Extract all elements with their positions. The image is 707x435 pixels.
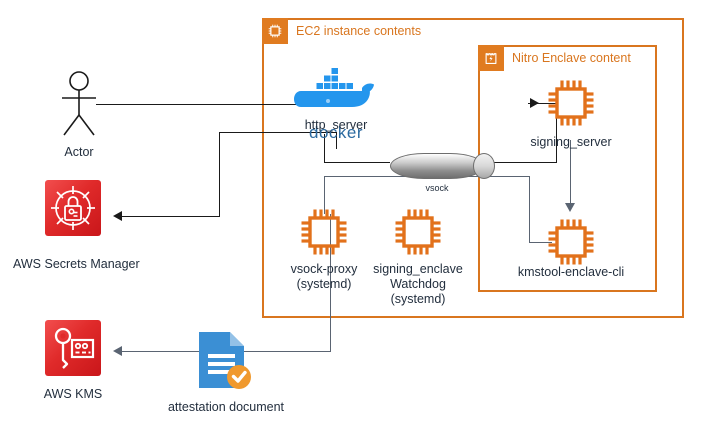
cpu-chip-icon	[545, 216, 597, 268]
secrets-manager-node	[45, 180, 101, 236]
ec2-instance-label: EC2 instance contents	[288, 24, 421, 38]
actor-label: Actor	[39, 145, 119, 160]
docker-http-server-label: http_server	[296, 118, 376, 133]
vsock-label: vsock	[397, 183, 477, 193]
signing-server-node	[545, 77, 597, 134]
signing-enclave-watchdog-label-line3: (systemd)	[373, 292, 463, 307]
attestation-document-node	[195, 331, 257, 398]
arrowhead-signing-server	[530, 98, 539, 108]
nitro-enclave-icon	[478, 45, 504, 71]
connector-secrets-inbound	[122, 216, 220, 217]
arrowhead-aws-kms	[113, 346, 122, 356]
signing-enclave-watchdog-node	[392, 206, 444, 263]
cpu-chip-icon	[545, 77, 597, 129]
signing-server-label: signing_server	[526, 135, 616, 150]
vsock-cylinder-icon	[390, 153, 484, 179]
kmstool-enclave-cli-label: kmstool-enclave-cli	[511, 265, 631, 280]
kms-node	[45, 320, 101, 376]
arrowhead-secrets-manager	[113, 211, 122, 221]
architecture-diagram: EC2 instance contents Nitro Enclave cont…	[0, 0, 707, 435]
arrowhead-kmstool-enclave-cli	[565, 203, 575, 212]
vsock-cylinder-cap	[473, 153, 495, 179]
vsock-proxy-label-line1: vsock-proxy	[284, 262, 364, 277]
connector-kmstool-down	[529, 176, 530, 242]
actor-stick-figure-icon	[48, 70, 110, 140]
nitro-enclave-label-tab: Nitro Enclave content	[478, 45, 631, 71]
cpu-chip-icon	[298, 206, 350, 258]
connector-http-server-into-vsock	[324, 162, 390, 163]
nitro-enclave-label: Nitro Enclave content	[504, 51, 631, 65]
actor-node	[48, 70, 110, 145]
vsock-proxy-node	[298, 206, 350, 263]
cpu-chip-icon	[392, 206, 444, 258]
attestation-document-label: attestation document	[156, 400, 296, 415]
secrets-manager-padlock-icon	[45, 180, 101, 236]
docker-whale-icon	[293, 68, 379, 120]
connector-secrets-vertical	[219, 132, 220, 216]
document-check-icon	[195, 331, 257, 393]
connector-actor-to-http-server	[96, 104, 298, 105]
vsock-proxy-label-line2: (systemd)	[284, 277, 364, 292]
signing-enclave-watchdog-label-line1: signing_enclave	[373, 262, 463, 277]
kms-label: AWS KMS	[33, 387, 113, 402]
kms-key-icon	[45, 320, 101, 376]
secrets-manager-label: AWS Secrets Manager	[13, 257, 133, 272]
signing-enclave-watchdog-label-line2: Watchdog	[373, 277, 463, 292]
ec2-instance-label-tab: EC2 instance contents	[262, 18, 421, 44]
ec2-chip-icon	[262, 18, 288, 44]
connector-vsock-to-signing-server-across	[484, 162, 557, 163]
